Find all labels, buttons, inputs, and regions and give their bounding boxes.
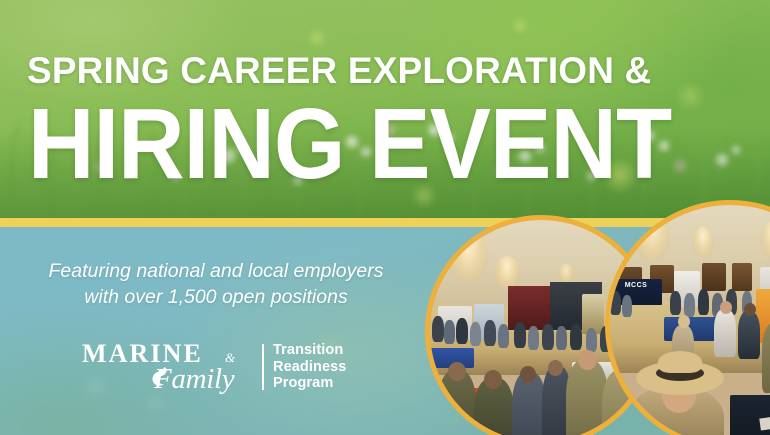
campaign-hat-crown — [658, 351, 702, 373]
subtitle-line-2: with over 1,500 open positions — [16, 284, 416, 310]
chandelier-icon — [494, 256, 520, 290]
person-head — [448, 362, 466, 381]
headline-line-1: SPRING CAREER EXPLORATION & — [27, 50, 736, 90]
chandelier-icon — [634, 213, 670, 261]
subtitle-text: Featuring national and local employers w… — [16, 258, 416, 310]
attendee-figure — [556, 326, 567, 350]
attendee-figure — [610, 291, 621, 315]
brochure-item — [759, 416, 770, 431]
program-line-1: Transition — [273, 342, 346, 359]
attendee-figure — [514, 322, 526, 348]
marine-and-family-logo: MARINE & Family Transition Readiness Pro… — [82, 340, 346, 394]
person-head — [548, 360, 563, 376]
attendee-figure — [738, 311, 760, 359]
marine-figure — [762, 323, 770, 393]
subtitle-line-1: Featuring national and local employers — [49, 260, 384, 282]
logo-family-text: Family — [154, 364, 234, 394]
spring-career-hiring-event-banner: SPRING CAREER EXPLORATION & HIRING EVENT… — [0, 0, 770, 435]
career-fair-photo-right: MCCS TEMPO TEMPO — [605, 200, 770, 435]
attendee-figure — [498, 324, 509, 348]
attendee-figure — [444, 320, 455, 344]
wall-door-panel — [702, 263, 726, 291]
attendee-figure — [586, 328, 597, 352]
attendee-figure — [684, 293, 695, 317]
attendee-figure — [470, 322, 481, 346]
attendee-figure — [714, 309, 736, 357]
attendee-figure — [698, 289, 709, 315]
chandelier-icon — [558, 264, 574, 284]
photo-right-content: MCCS TEMPO TEMPO — [610, 205, 770, 435]
person-head — [520, 366, 536, 383]
transition-readiness-program-text: Transition Readiness Program — [273, 342, 346, 392]
logo-divider-rule — [262, 344, 264, 390]
wall-door-panel — [732, 263, 752, 291]
program-line-2: Readiness — [273, 359, 346, 376]
marine-family-wordmark: MARINE & Family — [82, 340, 258, 394]
program-line-3: Program — [273, 375, 346, 392]
person-head — [744, 303, 756, 316]
chandelier-icon — [692, 227, 714, 257]
chandelier-icon — [448, 230, 488, 282]
attendee-figure — [528, 326, 539, 350]
mccs-sign-text: MCCS — [625, 282, 648, 289]
attendee-figure — [622, 295, 632, 317]
attendee-figure — [542, 324, 554, 350]
headline-line-2: HIRING EVENT — [28, 92, 690, 196]
attendee-figure — [432, 316, 444, 342]
attendee-figure — [484, 320, 496, 346]
person-head — [484, 370, 502, 389]
person-head — [678, 315, 690, 328]
person-head — [578, 350, 597, 370]
attendee-figure — [670, 291, 681, 315]
attendee-figure — [456, 318, 468, 344]
attendee-figure — [570, 324, 582, 350]
person-head — [720, 301, 732, 314]
headline-group: SPRING CAREER EXPLORATION & HIRING EVENT — [0, 0, 770, 218]
